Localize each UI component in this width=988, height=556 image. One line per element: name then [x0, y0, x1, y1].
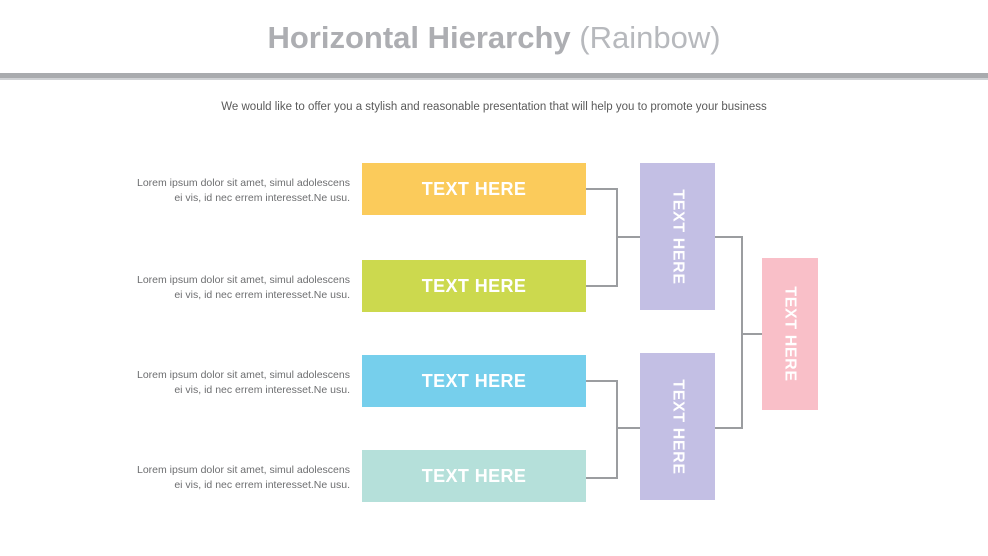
page-title: Horizontal Hierarchy (Rainbow) — [0, 18, 988, 58]
leaf-node-3-label: TEXT HERE — [422, 371, 527, 392]
connector-leaf-4 — [586, 477, 618, 479]
leaf-node-1-label: TEXT HERE — [422, 179, 527, 200]
page-title-light: (Rainbow) — [579, 20, 720, 55]
leaf-node-2[interactable]: TEXT HERE — [362, 260, 586, 312]
connector-to-mid-2 — [616, 427, 642, 429]
leaf-description-2-line-1: Lorem ipsum dolor sit amet, simul adoles… — [128, 273, 350, 288]
leaf-description-4-line-2: ei vis, id nec errem interesset.Ne usu. — [128, 478, 350, 493]
connector-mid-2 — [715, 427, 743, 429]
leaf-description-3-line-2: ei vis, id nec errem interesset.Ne usu. — [128, 383, 350, 398]
mid-node-1[interactable]: TEXT HERE — [640, 163, 715, 310]
leaf-node-4[interactable]: TEXT HERE — [362, 450, 586, 502]
page-subtitle: We would like to offer you a stylish and… — [0, 101, 988, 113]
leaf-node-3[interactable]: TEXT HERE — [362, 355, 586, 407]
leaf-description-1-line-1: Lorem ipsum dolor sit amet, simul adoles… — [128, 176, 350, 191]
leaf-description-3-line-1: Lorem ipsum dolor sit amet, simul adoles… — [128, 368, 350, 383]
root-node[interactable]: TEXT HERE — [762, 258, 818, 410]
leaf-description-4: Lorem ipsum dolor sit amet, simul adoles… — [128, 463, 350, 492]
connector-to-root — [741, 333, 764, 335]
connector-leaf-2 — [586, 285, 618, 287]
mid-node-1-label: TEXT HERE — [669, 189, 687, 284]
connector-leaf-3 — [586, 380, 618, 382]
root-node-label: TEXT HERE — [781, 286, 799, 381]
leaf-description-1: Lorem ipsum dolor sit amet, simul adoles… — [128, 176, 350, 205]
leaf-description-2-line-2: ei vis, id nec errem interesset.Ne usu. — [128, 288, 350, 303]
leaf-description-2: Lorem ipsum dolor sit amet, simul adoles… — [128, 273, 350, 302]
header-divider-shadow — [0, 78, 988, 80]
connector-mid-1 — [715, 236, 743, 238]
slide-canvas: Horizontal Hierarchy (Rainbow) We would … — [0, 0, 988, 556]
leaf-node-4-label: TEXT HERE — [422, 466, 527, 487]
page-title-strong: Horizontal Hierarchy — [267, 20, 579, 55]
leaf-node-1[interactable]: TEXT HERE — [362, 163, 586, 215]
connector-bracket-lower — [616, 380, 618, 479]
connector-leaf-1 — [586, 188, 618, 190]
leaf-description-3: Lorem ipsum dolor sit amet, simul adoles… — [128, 368, 350, 397]
leaf-description-4-line-1: Lorem ipsum dolor sit amet, simul adoles… — [128, 463, 350, 478]
leaf-node-2-label: TEXT HERE — [422, 276, 527, 297]
mid-node-2[interactable]: TEXT HERE — [640, 353, 715, 500]
mid-node-2-label: TEXT HERE — [669, 379, 687, 474]
connector-to-mid-1 — [616, 236, 642, 238]
leaf-description-1-line-2: ei vis, id nec errem interesset.Ne usu. — [128, 191, 350, 206]
